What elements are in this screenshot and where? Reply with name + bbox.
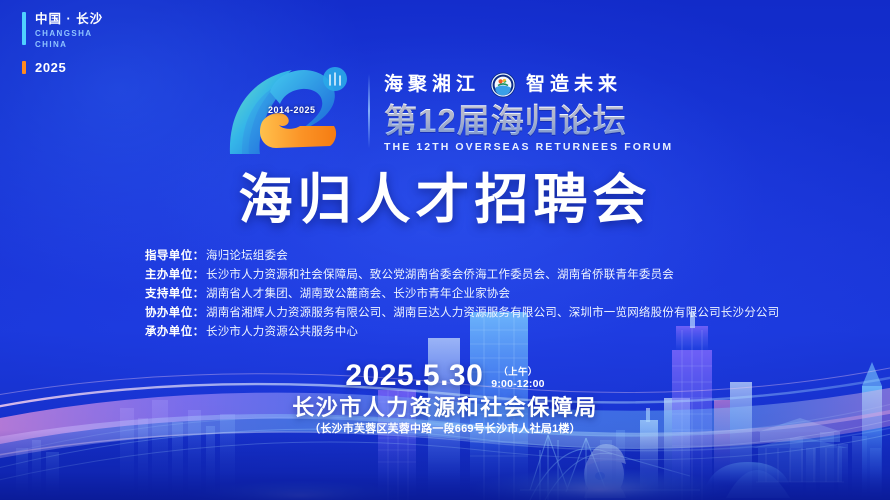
- organizer-row: 支持单位： 湖南省人才集团、湖南致公麓商会、长沙市青年企业家协会: [0, 286, 890, 303]
- event-time: 9:00-12:00: [491, 378, 544, 390]
- event-address: （长沙市芙蓉区芙蓉中路一段669号长沙市人社局1楼）: [0, 422, 890, 437]
- city-name-cn: 中国 · 长沙: [35, 12, 103, 27]
- logo-divider: [368, 74, 370, 148]
- organizer-label: 主办单位：: [145, 267, 205, 284]
- event-date-row: 2025.5.30 （上午） 9:00-12:00: [345, 360, 544, 392]
- year-label: 2025: [22, 60, 103, 75]
- organizer-row: 指导单位： 海归论坛组委会: [0, 248, 890, 265]
- year-value: 2025: [35, 60, 66, 75]
- accent-bar-cyan: [22, 12, 26, 45]
- event-ampm: （上午）: [491, 367, 544, 378]
- accent-bar-orange: [22, 61, 26, 74]
- organizer-row: 协办单位： 湖南省湘辉人力资源服务有限公司、湖南巨达人力资源服务有限公司、深圳市…: [0, 305, 890, 322]
- city-name-en: CHANGSHA CHINA: [35, 29, 103, 50]
- ground-glow: [0, 430, 890, 500]
- poster-canvas: 中国 · 长沙 CHANGSHA CHINA 2025: [0, 0, 890, 500]
- organizer-label: 指导单位：: [145, 248, 205, 265]
- slogan-right-text: 智造未来: [526, 75, 622, 94]
- city-name-en-line1: CHANGSHA: [35, 29, 103, 40]
- forum-logo-lockup: 2014-2025 海聚湘江 智: [222, 62, 673, 160]
- organizer-value: 湖南省人才集团、湖南致公麓商会、长沙市青年企业家协会: [206, 286, 510, 303]
- location-corner-label: 中国 · 长沙 CHANGSHA CHINA 2025: [22, 12, 103, 75]
- forum-title-cn: 第12届海归论坛: [384, 102, 673, 140]
- organizer-value: 长沙市人力资源公共服务中心: [206, 324, 358, 341]
- organizer-value: 湖南省湘辉人力资源服务有限公司、湖南巨达人力资源服务有限公司、深圳市一览网络股份…: [206, 305, 779, 322]
- organizer-row: 承办单位： 长沙市人力资源公共服务中心: [0, 324, 890, 341]
- forum-slogan: 海聚湘江 智造未来: [384, 70, 673, 100]
- emblem-year-range: 2014-2025: [268, 105, 316, 115]
- page-title: 海归人才招聘会: [0, 170, 890, 230]
- forum-seal-icon: [490, 72, 516, 98]
- organizer-label: 支持单位：: [145, 286, 205, 303]
- slogan-left-text: 海聚湘江: [384, 75, 480, 94]
- organizer-value: 海归论坛组委会: [206, 248, 288, 265]
- forum-emblem-icon: 2014-2025: [222, 62, 360, 160]
- event-details: 2025.5.30 （上午） 9:00-12:00 长沙市人力资源和社会保障局 …: [0, 360, 890, 437]
- organizer-label: 协办单位：: [145, 305, 205, 322]
- city-name-en-line2: CHINA: [35, 40, 103, 51]
- event-venue: 长沙市人力资源和社会保障局: [0, 394, 890, 421]
- event-date: 2025.5.30: [345, 360, 483, 392]
- forum-title-en: THE 12TH OVERSEAS RETURNEES FORUM: [384, 141, 673, 153]
- organizer-value: 长沙市人力资源和社会保障局、致公党湖南省委会侨海工作委员会、湖南省侨联青年委员会: [206, 267, 674, 284]
- organizer-row: 主办单位： 长沙市人力资源和社会保障局、致公党湖南省委会侨海工作委员会、湖南省侨…: [0, 267, 890, 284]
- event-time-block: （上午） 9:00-12:00: [491, 367, 544, 392]
- organizer-list: 指导单位： 海归论坛组委会 主办单位： 长沙市人力资源和社会保障局、致公党湖南省…: [0, 248, 890, 343]
- organizer-label: 承办单位：: [145, 324, 205, 341]
